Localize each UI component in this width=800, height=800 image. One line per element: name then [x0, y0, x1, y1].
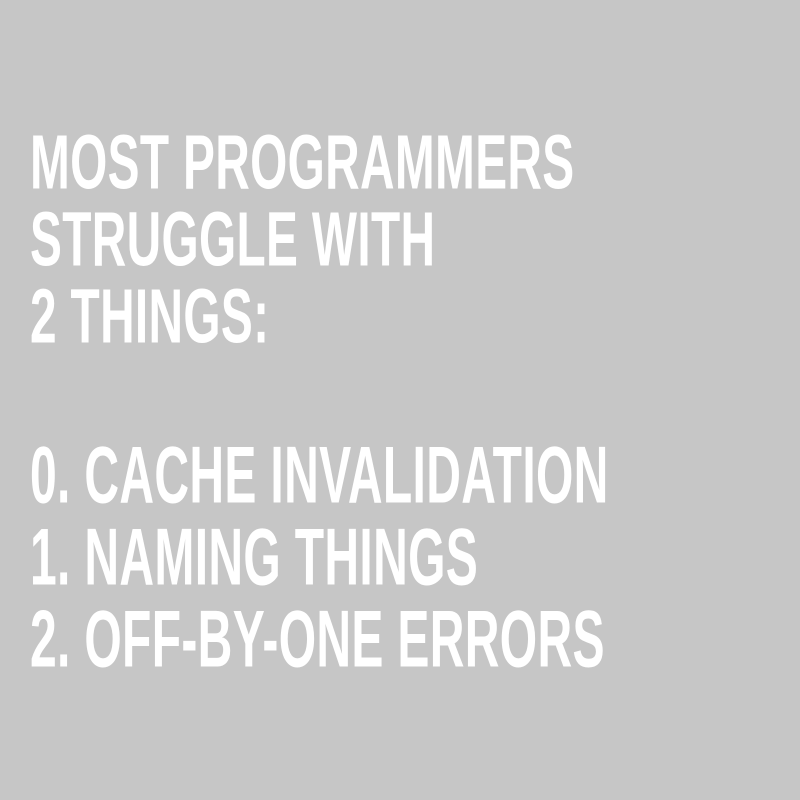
list-item-0: 0. CACHE INVALIDATION — [30, 435, 609, 516]
heading-line-1: MOST PROGRAMMERS — [30, 124, 574, 201]
heading-line-2: STRUGGLE WITH — [30, 201, 435, 278]
list-item-1: 1. NAMING THINGS — [30, 517, 478, 598]
meme-image-canvas: MOST PROGRAMMERS STRUGGLE WITH 2 THINGS:… — [0, 0, 800, 800]
list-item-2: 2. OFF-BY-ONE ERRORS — [30, 599, 605, 680]
heading-line-3: 2 THINGS: — [30, 278, 269, 355]
